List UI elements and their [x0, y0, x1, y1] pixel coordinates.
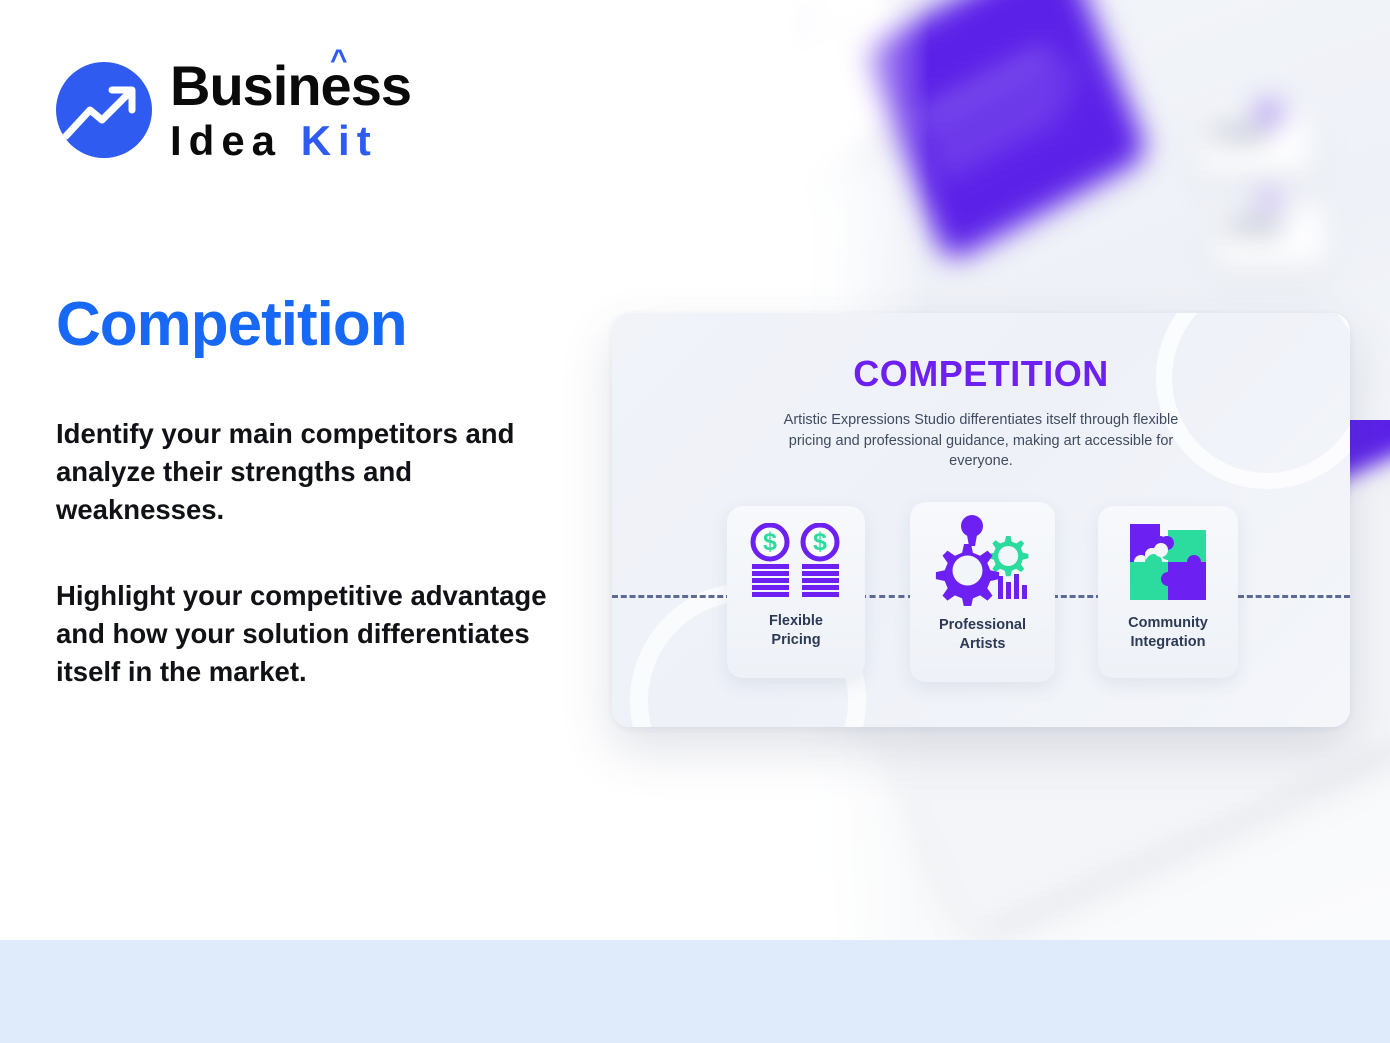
decorative-ring-top-right [1156, 313, 1350, 489]
puzzle-pieces-icon [1126, 520, 1210, 604]
growth-chart-arrow-icon [56, 62, 152, 158]
connector-dash-left [612, 595, 732, 598]
bottom-band [0, 940, 1390, 1043]
brand-line-2-dark: Idea [170, 117, 282, 164]
feature-label-line-1: Professional [939, 617, 1026, 633]
feature-card-flexible-pricing[interactable]: $ $ Flexible Pricing [727, 506, 865, 678]
svg-text:$: $ [763, 528, 777, 556]
bg-mini-card-1-bar [1210, 128, 1268, 139]
feature-label-line-1: Community [1128, 615, 1208, 631]
bg-mini-card-2-bar [1225, 221, 1283, 232]
connector-dash-right [1238, 595, 1350, 598]
gears-lightbulb-bar-chart-icon [928, 514, 1038, 606]
slide-title: COMPETITION [612, 353, 1350, 395]
brand-line-1-text: Business [170, 54, 411, 117]
body-paragraph-1: Identify your main competitors and analy… [56, 415, 576, 529]
brand-line-2: Idea Kit [170, 120, 411, 162]
connector-dash-middle-2 [1052, 595, 1102, 598]
coin-stacks-dollar-icon: $ $ [744, 522, 848, 602]
feature-label-line-2: Pricing [771, 632, 820, 648]
brand-wordmark: Business ^ Idea Kit [170, 58, 411, 162]
feature-card-professional-artists[interactable]: Professional Artists [910, 502, 1055, 682]
bg-mini-card-1 [1200, 115, 1310, 173]
connector-dash-middle-1 [860, 595, 914, 598]
feature-label: Community Integration [1128, 614, 1208, 652]
brand-line-1: Business ^ [170, 58, 411, 114]
slide-description: Artistic Expressions Studio differentiat… [781, 410, 1181, 472]
feature-label-line-1: Flexible [769, 613, 823, 629]
bg-mini-dot-1 [1258, 102, 1280, 124]
feature-label: Professional Artists [939, 616, 1026, 654]
bg-mini-dot-2 [1260, 192, 1278, 210]
feature-label: Flexible Pricing [769, 612, 823, 650]
brand-logo: Business ^ Idea Kit [56, 58, 411, 162]
brand-accent-caret-icon: ^ [330, 46, 347, 76]
bg-mini-card-2 [1215, 208, 1325, 266]
feature-card-community-integration[interactable]: Community Integration [1098, 506, 1238, 678]
feature-label-line-2: Artists [960, 636, 1006, 652]
feature-label-line-2: Integration [1131, 634, 1206, 650]
svg-text:$: $ [813, 528, 827, 556]
page-title: Competition [56, 292, 407, 357]
brand-line-2-accent: Kit [301, 117, 378, 164]
body-copy: Identify your main competitors and analy… [56, 415, 576, 691]
body-paragraph-2: Highlight your competitive advantage and… [56, 577, 576, 691]
